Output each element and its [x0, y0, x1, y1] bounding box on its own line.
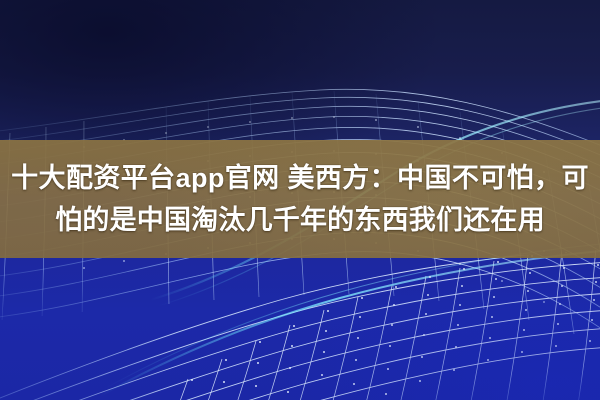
headline-line-2: 怕的是中国淘汰几千年的东西我们还在用	[55, 199, 545, 241]
headline-block: 十大配资平台app官网 美西方：中国不可怕，可 怕的是中国淘汰几千年的东西我们还…	[0, 140, 600, 258]
promo-banner: 十大配资平台app官网 美西方：中国不可怕，可 怕的是中国淘汰几千年的东西我们还…	[0, 0, 600, 400]
headline-line-1: 十大配资平台app官网 美西方：中国不可怕，可	[11, 157, 589, 199]
